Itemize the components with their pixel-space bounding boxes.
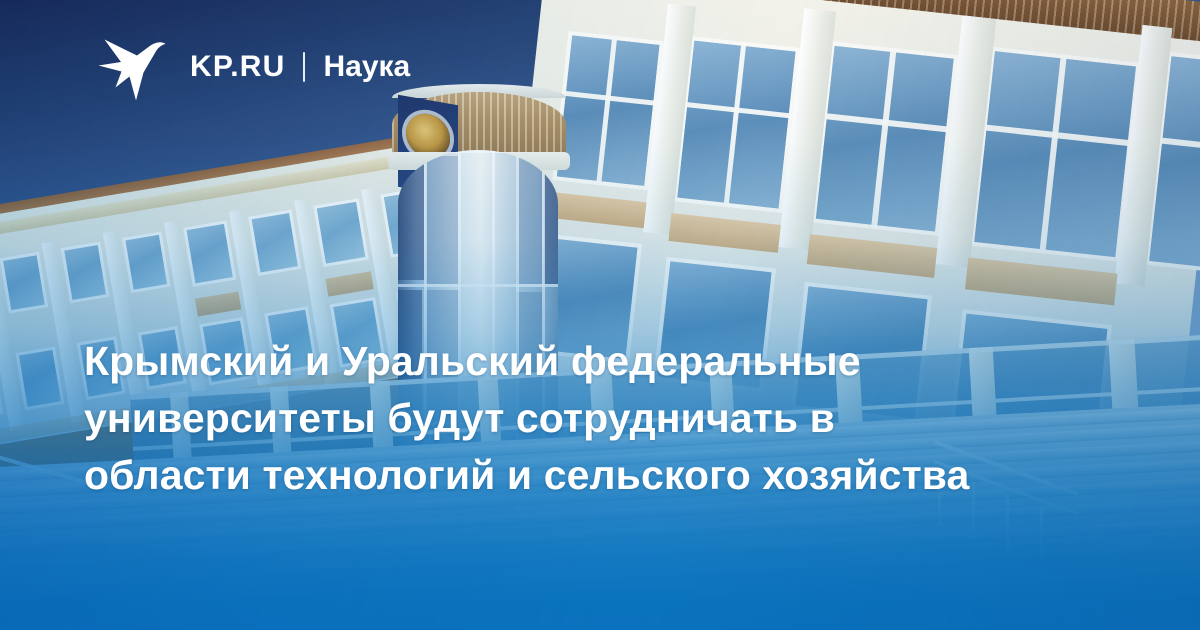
kp-swallow-bird-icon xyxy=(96,32,168,102)
page-title: Крымский и Уральский федеральные универс… xyxy=(84,333,984,504)
kp-article-share-card: KP.RU Наука Крымский и Уральский федерал… xyxy=(0,0,1200,630)
header-divider xyxy=(303,52,305,82)
section-name: Наука xyxy=(323,52,410,82)
brand-header: KP.RU Наука xyxy=(96,32,410,102)
brand-name: KP.RU xyxy=(190,52,285,82)
